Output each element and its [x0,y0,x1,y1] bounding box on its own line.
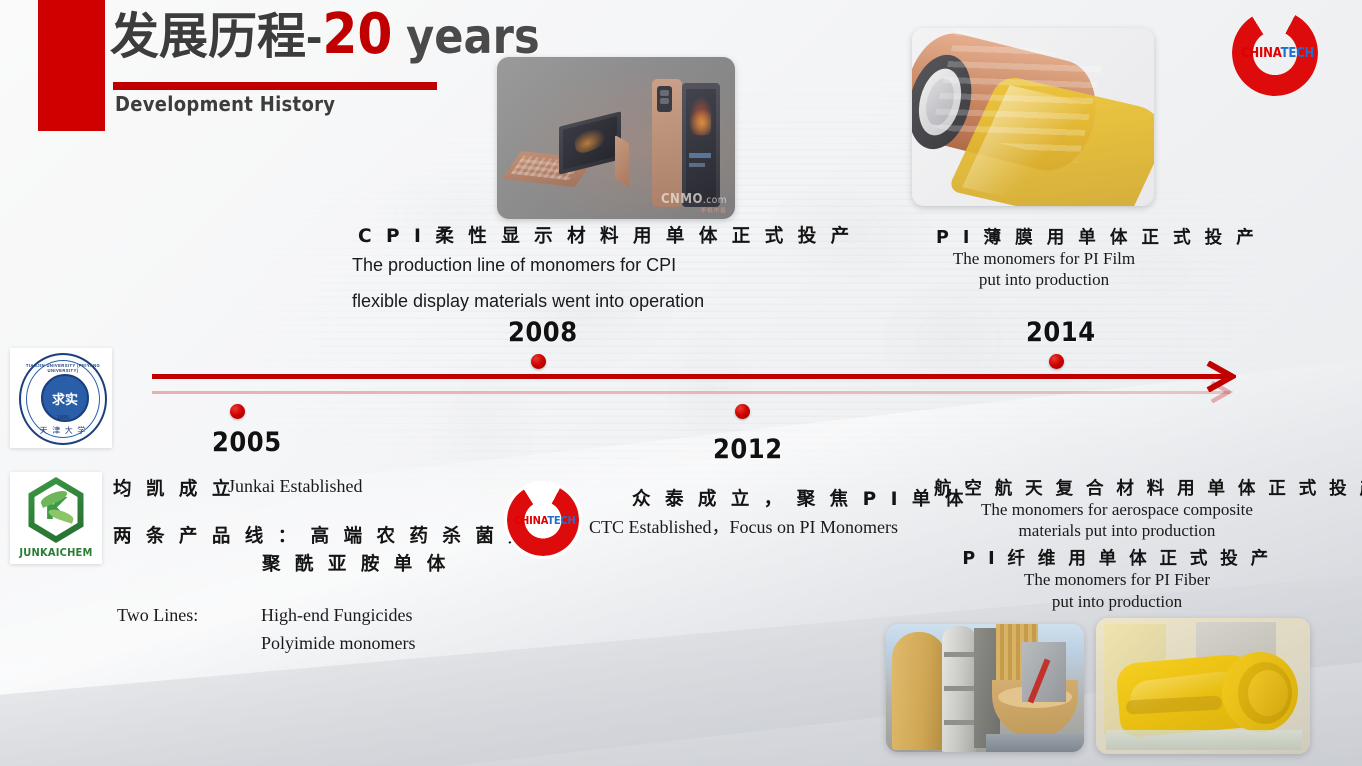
chinatech-logo-text-china: CHINA [1241,46,1281,61]
milestone-2014-sub-cn-title-1: 航 空 航 天 复 合 材 料 用 单 体 正 式 投 产 [934,475,1362,500]
milestone-2014-dot [1049,354,1064,369]
timeline-axis [152,374,1230,379]
milestone-2014-en-line-2: put into production [944,270,1144,290]
slide-canvas: 发展历程-20 years Development History CHINAT… [0,0,1362,766]
chinatech-logo: CHINATECH [1232,10,1318,96]
milestone-2012-dot [735,404,750,419]
milestone-2012-en-title: CTC Established，Focus on PI Monomers [589,513,898,539]
chinatech-logo-2012-text: CHINATECH [514,514,576,527]
milestone-2005-en-label: Two Lines: [117,605,198,626]
chinatech-logo-text-tech: TECH [1281,46,1315,61]
photo-watermark-suffix: .com [703,195,727,206]
tianjin-university-seal: 求实 1895 天 津 大 学 TIANJIN UNIVERSITY (PEIY… [19,353,107,445]
milestone-2005-en-line-2: Polyimide monomers [261,633,416,654]
tju-seal-year: 1895 [21,415,105,421]
tju-seal-center-cn: 求实 [43,376,87,420]
photo-watermark-sub: 手机中国 [661,207,727,214]
milestone-2014-year: 2014 [1026,317,1096,348]
milestone-2008-en-line-2: flexible display materials went into ope… [352,291,704,312]
milestone-2005-cn-line-2: 聚 酰 亚 胺 单 体 [262,550,449,576]
milestone-2012-cn-title: 众 泰 成 立 ， 聚 焦 P I 单 体 [632,485,967,511]
chinatech-logo-2012-china: CHINA [514,514,547,527]
milestone-2014-sub-cn-title-2: P I 纤 维 用 单 体 正 式 投 产 [938,545,1296,570]
milestone-2008-dot [531,354,546,369]
milestone-2005-en-line-1: High-end Fungicides [261,605,412,626]
chinatech-logo-text: CHINATECH [1241,46,1314,61]
aerospace-composite-photo [886,624,1084,752]
title-underline-rule [113,82,437,90]
photo-watermark: CNMO.com 手机中国 [661,192,727,214]
tju-seal-ring-text: TIANJIN UNIVERSITY (PEIYANG UNIVERSITY) [21,363,105,373]
milestone-2014-sub-en-line-1: The monomers for aerospace composite [938,500,1296,520]
pi-fiber-fabric-photo [1096,618,1310,754]
milestone-2014-en-line-1: The monomers for PI Film [944,249,1144,269]
junkai-logo-card: K JUNKAICHEM [10,472,102,564]
tianjin-university-seal-card: 求实 1895 天 津 大 学 TIANJIN UNIVERSITY (PEIY… [10,348,112,448]
milestone-2014-sub-en-line-3: The monomers for PI Fiber [938,570,1296,590]
junkai-logo-label: JUNKAICHEM [10,546,102,559]
milestone-2008-year: 2008 [508,317,578,348]
milestone-2012-year: 2012 [713,434,783,465]
photo-watermark-main: CNMO [661,192,703,207]
page-title: 发展历程-20 years [110,7,540,63]
timeline-arrow-head-reflection-icon [1206,381,1236,403]
milestone-2014-sub-en-line-2: materials put into production [938,521,1296,541]
junkai-hexagon-mark: K [24,477,88,543]
page-title-cn: 发展历程- [110,10,322,64]
milestone-2005-cn-title: 均 凯 成 立 [113,475,234,501]
foldable-device-photo: CNMO.com 手机中国 [497,57,735,219]
milestone-2005-year: 2005 [212,427,282,458]
chinatech-logo-2012: CHINATECH [507,484,579,556]
timeline-axis-reflection [152,391,1230,394]
milestone-2014-sub-en-line-4: put into production [938,592,1296,612]
pi-film-roll-photo [912,28,1154,206]
page-title-number: 20 [322,2,392,67]
milestone-2005-cn-line-1: 两 条 产 品 线 ： 高 端 农 药 杀 菌 剂 [113,522,531,548]
chinatech-logo-2012-tech: TECH [547,514,575,527]
milestone-2008-en-line-1: The production line of monomers for CPI [352,255,676,276]
tju-seal-bottom-cn: 天 津 大 学 [21,425,105,436]
header-red-block [38,0,105,131]
milestone-2005-en-title: Junkai Established [228,476,362,497]
milestone-2008-cn-title: C P I 柔 性 显 示 材 料 用 单 体 正 式 投 产 [358,222,853,248]
page-subtitle: Development History [115,92,335,116]
milestone-2014-cn-title: P I 薄 膜 用 单 体 正 式 投 产 [936,224,1258,249]
milestone-2005-dot [230,404,245,419]
